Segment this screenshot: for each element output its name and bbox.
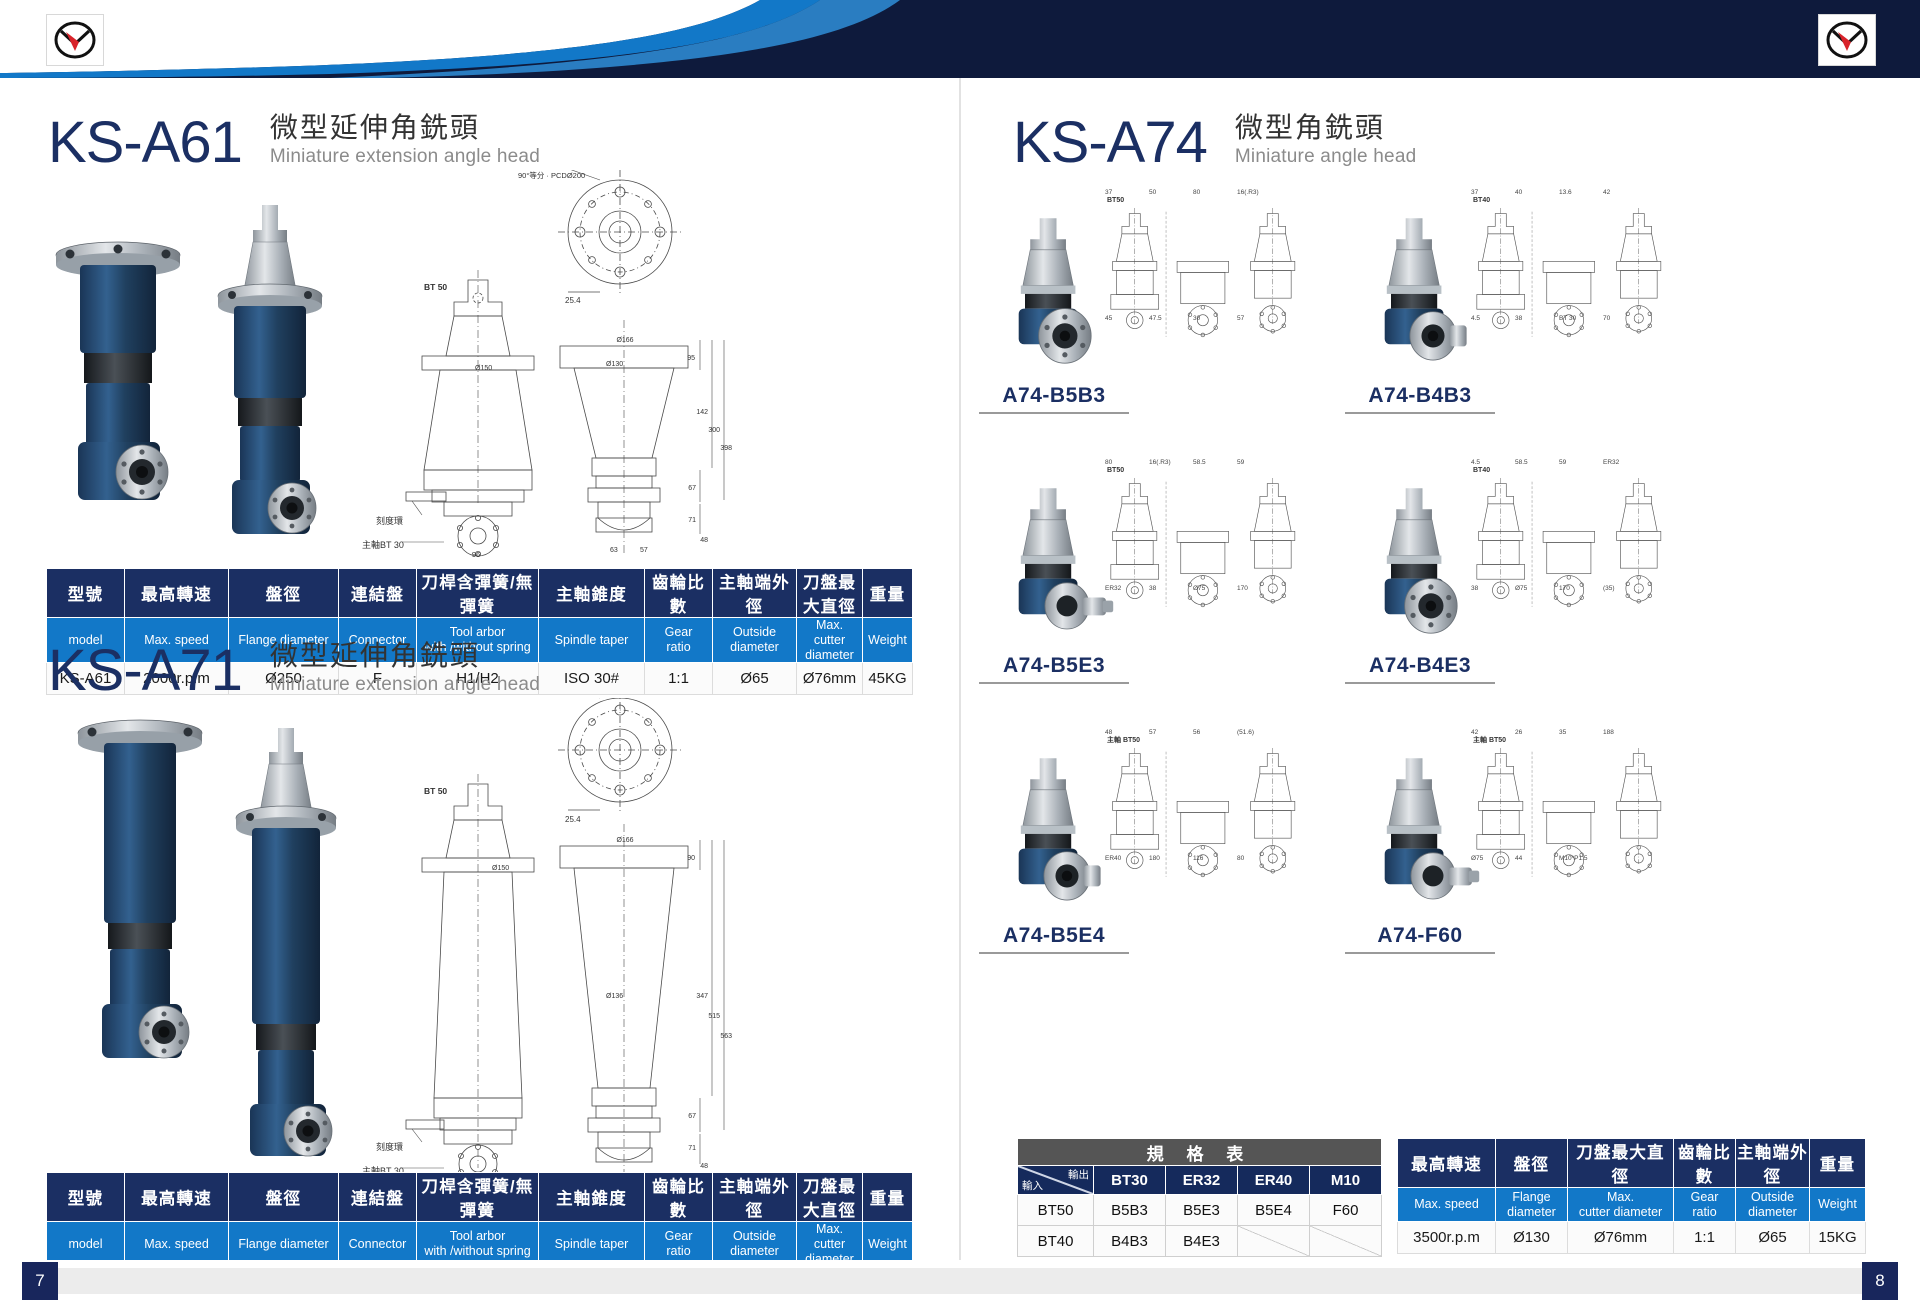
dim-2: 56 — [1193, 729, 1201, 736]
matrix-col-2: ER40 — [1238, 1166, 1310, 1195]
col-header-cn-0: 型號 — [47, 569, 125, 618]
variant-label: A74-B5E3 — [979, 654, 1129, 684]
dim-scale-ring-label: 刻度環 — [376, 1141, 403, 1152]
matrix-row: BT50B5B3B5E3B5E4F60 — [1018, 1195, 1382, 1226]
dim-136: Ø136 — [606, 993, 623, 1000]
matrix-cell-1-3 — [1310, 1226, 1382, 1257]
variant-label: A74-B4B3 — [1345, 384, 1495, 414]
col-header-cn-9: 重量 — [863, 569, 913, 618]
cell-8: Ø76mm — [797, 663, 863, 695]
matrix-title: 規 格 表 — [1018, 1139, 1382, 1166]
col-header-cn-5: 重量 — [1810, 1139, 1866, 1188]
cell-7: Ø65 — [713, 663, 797, 695]
dim-515: 515 — [708, 1013, 720, 1020]
variant-photo — [1385, 218, 1467, 360]
dim-3: ER32 — [1603, 459, 1620, 466]
col-header-en-0: Max. speed — [1398, 1188, 1496, 1222]
table-header-row-cn: 型號最高轉速盤徑連結盤刀桿含彈簧/無彈簧主軸錐度齒輪比數主軸端外徑刀盤最大直徑重… — [47, 1173, 913, 1222]
variant-block: BT5037508016(.R3)4547.53057A74-B5B3 — [979, 178, 1339, 448]
cell-1: Ø130 — [1496, 1222, 1568, 1254]
dim-4: 4.5 — [1471, 315, 1480, 322]
dim-3: (51.6) — [1237, 729, 1254, 736]
col-header-cn-3: 連結盤 — [339, 569, 417, 618]
taper-note: BT40 — [1473, 197, 1490, 204]
dim-3: 188 — [1603, 729, 1614, 736]
variant-technical-drawing — [1477, 208, 1595, 337]
variant-illustration: BT508016(.R3)58.559ER3238Ø75170 — [979, 448, 1335, 656]
matrix-row-label-1: BT40 — [1018, 1226, 1094, 1257]
variant-block: 主軸 BT50422635188Ø7544M10*P1.5A74-F60 — [1345, 718, 1705, 988]
col-header-cn-6: 齒輪比數 — [645, 569, 713, 618]
dim-5: 38 — [1149, 585, 1157, 592]
matrix-cell-0-3: F60 — [1310, 1195, 1382, 1226]
dim-2: 13.6 — [1559, 189, 1572, 196]
dim-48: 48 — [700, 537, 708, 544]
dim-1: 50 — [1149, 189, 1157, 196]
dim-bt50-label: BT 50 — [424, 786, 447, 796]
top-banner — [0, 0, 1920, 78]
dim-2: 35 — [1559, 729, 1567, 736]
dim-0: 37 — [1471, 189, 1479, 196]
col-header-en-5: Weight — [1810, 1188, 1866, 1222]
col-header-cn-3: 連結盤 — [339, 1173, 417, 1222]
company-logo-icon — [53, 20, 97, 60]
variant-technical-drawing-2 — [1617, 748, 1661, 873]
dim-6: 30 — [1193, 315, 1201, 322]
product-illustration-ks-a61: (4)Ø17貫穿 · 90°等分 · PCDØ200 25.4 — [40, 170, 920, 560]
col-header-en-4: Outsidediameter — [1736, 1188, 1810, 1222]
dim-label-254: 25.4 — [565, 815, 581, 824]
dim-spindle-label: 主軸BT 30 — [362, 539, 404, 550]
page-number-left: 7 — [22, 1262, 58, 1300]
variant-illustration: BT404.558.559ER3238Ø75170(35) — [1345, 448, 1701, 656]
dim-166: Ø166 — [616, 337, 633, 344]
variant-technical-drawing — [1111, 208, 1229, 337]
col-header-cn-2: 盤徑 — [229, 1173, 339, 1222]
matrix-cell-1-0: B4B3 — [1094, 1226, 1166, 1257]
dim-130: Ø130 — [606, 361, 623, 368]
taper-note: 主軸 BT50 — [1107, 735, 1140, 744]
drawing-section-view — [402, 270, 534, 557]
col-header-en-8: Max.cutter diameter — [797, 618, 863, 663]
dim-398: 398 — [720, 445, 732, 452]
variant-illustration: 主軸 BT50485756(51.6)ER4018011680 — [979, 718, 1335, 926]
variant-label: A74-B5E4 — [979, 924, 1129, 954]
variant-technical-drawing — [1477, 478, 1595, 607]
section-title-ks-a74: KS-A74 微型角銑頭 Miniature angle head — [1013, 110, 1416, 172]
col-header-cn-7: 主軸端外徑 — [713, 1173, 797, 1222]
dim-57: 57 — [640, 547, 648, 554]
dim-67: 67 — [688, 485, 696, 492]
right-page: KS-A74 微型角銑頭 Miniature angle head BT5037… — [961, 78, 1920, 1260]
dim-6: 116 — [1193, 855, 1204, 862]
variant-label: A74-B4E3 — [1345, 654, 1495, 684]
taper-note: 主軸 BT50 — [1473, 735, 1506, 744]
dim-1: 58.5 — [1515, 459, 1528, 466]
variant-illustration: BT40374013.6424.538BT 3070 — [1345, 178, 1701, 386]
dim-2: 80 — [1193, 189, 1201, 196]
dim-63: 63 — [610, 547, 618, 554]
photo-unit-a — [78, 720, 202, 1058]
drawing-flange-top-view — [540, 698, 682, 812]
cell-9: 45KG — [863, 663, 913, 695]
variant-technical-drawing-2 — [1617, 478, 1661, 603]
dim-7: (35) — [1603, 585, 1615, 592]
matrix-cell-1-2 — [1238, 1226, 1310, 1257]
col-header-en-5: Spindle taper — [539, 618, 645, 663]
dim-6: Ø75 — [1193, 585, 1206, 592]
dim-2: 58.5 — [1193, 459, 1206, 466]
variant-photo — [1019, 488, 1113, 629]
col-header-cn-2: 盤徑 — [229, 569, 339, 618]
col-header-cn-2: 刀盤最大直徑 — [1568, 1139, 1674, 1188]
matrix-col-3: M10 — [1310, 1166, 1382, 1195]
drawing-elevation-view — [560, 824, 724, 1178]
dim-4: ER40 — [1105, 855, 1122, 862]
ks-a61-drawing: (4)Ø17貫穿 · 90°等分 · PCDØ200 25.4 — [40, 170, 920, 560]
dim-95: 95 — [687, 355, 695, 362]
col-header-cn-6: 齒輪比數 — [645, 1173, 713, 1222]
dim-48: 48 — [700, 1163, 708, 1170]
dim-142: 142 — [696, 409, 708, 416]
col-header-cn-1: 最高轉速 — [125, 569, 229, 618]
section-name-en: Miniature extension angle head — [270, 145, 540, 170]
variant-photo — [1019, 758, 1101, 900]
table-body: 3500r.p.mØ130Ø76mm1:1Ø6515KG — [1398, 1222, 1866, 1254]
col-header-cn-4: 刀桿含彈簧/無彈簧 — [417, 569, 539, 618]
section-name-cn: 微型角銑頭 — [1235, 110, 1416, 145]
dim-7: 70 — [1603, 315, 1611, 322]
section-title-ks-a61: KS-A61 微型延伸角銑頭 Miniature extension angle… — [48, 110, 540, 172]
dim-6: BT 30 — [1559, 315, 1577, 322]
drawing-flange-top-view — [538, 170, 682, 294]
section-name-en: Miniature extension angle head — [270, 673, 540, 698]
col-header-cn-0: 最高轉速 — [1398, 1139, 1496, 1188]
dim-label-254: 25.4 — [565, 296, 581, 305]
table-header-row-en: Max. speedFlangediameterMax.cutter diame… — [1398, 1188, 1866, 1222]
matrix-cell-0-1: B5E3 — [1166, 1195, 1238, 1226]
dim-0: 37 — [1105, 189, 1113, 196]
spec-matrix-table: 規 格 表輸出輸入BT30ER32ER40M10BT50B5B3B5E3B5E4… — [1017, 1138, 1382, 1257]
col-header-cn-8: 刀盤最大直徑 — [797, 1173, 863, 1222]
cell-0: 3500r.p.m — [1398, 1222, 1496, 1254]
matrix-cell-0-2: B5E4 — [1238, 1195, 1310, 1226]
dim-5: Ø75 — [1515, 585, 1528, 592]
dim-67: 67 — [688, 1113, 696, 1120]
photo-unit-a — [56, 242, 180, 500]
dim-71: 71 — [688, 517, 696, 524]
matrix-row: BT40B4B3B4E3 — [1018, 1226, 1382, 1257]
taper-note: BT40 — [1473, 467, 1490, 474]
col-header-cn-5: 主軸錐度 — [539, 569, 645, 618]
dim-1: 26 — [1515, 729, 1523, 736]
section-code: KS-A61 — [48, 114, 242, 172]
dim-71: 71 — [688, 1145, 696, 1152]
section-name-en: Miniature angle head — [1235, 145, 1416, 170]
variant-technical-drawing-2 — [1251, 478, 1295, 603]
matrix-cell-1-1: B4E3 — [1166, 1226, 1238, 1257]
variant-label: A74-F60 — [1345, 924, 1495, 954]
company-logo-right — [1818, 14, 1876, 66]
dim-347: 347 — [696, 993, 708, 1000]
dim-5: 180 — [1149, 855, 1160, 862]
matrix-corner-output: 輸出 — [1068, 1167, 1089, 1182]
dim-7: 170 — [1237, 585, 1248, 592]
col-header-cn-1: 盤徑 — [1496, 1139, 1568, 1188]
dim-3: 42 — [1603, 189, 1611, 196]
drawing-section-view — [400, 774, 534, 1184]
cell-5: ISO 30# — [539, 663, 645, 695]
matrix-corner-input: 輸入 — [1022, 1178, 1043, 1193]
product-illustration-ks-a71: (4)Ø17貫穿 · 90°等分 · PCDØ200 25.4 — [40, 698, 920, 1198]
dim-5: 44 — [1515, 855, 1523, 862]
company-logo-icon — [1825, 20, 1869, 60]
left-page: KS-A61 微型延伸角銑頭 Miniature extension angle… — [0, 78, 959, 1260]
dim-0: 80 — [1105, 459, 1113, 466]
taper-note: BT50 — [1107, 197, 1124, 204]
dim-6: M10*P1.5 — [1559, 855, 1588, 862]
matrix-corner-cell: 輸出輸入 — [1018, 1166, 1094, 1195]
dim-7: 57 — [1237, 315, 1245, 322]
dim-150: Ø150 — [492, 865, 509, 872]
dim-7: 80 — [1237, 855, 1245, 862]
dim-0: 4.5 — [1471, 459, 1480, 466]
col-header-cn-3: 齒輪比數 — [1674, 1139, 1736, 1188]
dim-hole-note-2: 90°等分 · PCDØ200 — [518, 170, 585, 180]
section-code: KS-A71 — [48, 642, 242, 700]
variant-illustration: 主軸 BT50422635188Ø7544M10*P1.5 — [1345, 718, 1701, 926]
photo-unit-b — [218, 205, 322, 534]
drawing-elevation-view — [560, 320, 724, 556]
table-row: 3500r.p.mØ130Ø76mm1:1Ø6515KG — [1398, 1222, 1866, 1254]
variant-technical-drawing — [1111, 478, 1229, 607]
variant-photo — [1385, 488, 1457, 633]
variant-block: BT508016(.R3)58.559ER3238Ø75170A74-B5E3 — [979, 448, 1339, 718]
matrix-col-1: ER32 — [1166, 1166, 1238, 1195]
dim-4: 38 — [1471, 585, 1479, 592]
variant-technical-drawing — [1111, 748, 1229, 877]
col-header-en-7: Outsidediameter — [713, 618, 797, 663]
variant-label: A74-B5B3 — [979, 384, 1129, 414]
page-number-right: 8 — [1862, 1262, 1898, 1300]
dim-90: 90 — [687, 855, 695, 862]
matrix-header-row: 輸出輸入BT30ER32ER40M10 — [1018, 1166, 1382, 1195]
variant-technical-drawing-2 — [1617, 208, 1661, 333]
matrix-title-row: 規 格 表 — [1018, 1139, 1382, 1166]
variant-photo — [1019, 218, 1091, 363]
photo-unit-b — [236, 728, 336, 1156]
company-logo-left — [46, 14, 104, 66]
variant-illustration: BT5037508016(.R3)4547.53057 — [979, 178, 1335, 386]
section-title-ks-a71: KS-A71 微型延伸角銑頭 Miniature extension angle… — [48, 638, 540, 700]
col-header-en-1: Flangediameter — [1496, 1188, 1568, 1222]
dim-2: 59 — [1559, 459, 1567, 466]
variant-block: BT40374013.6424.538BT 3070A74-B4B3 — [1345, 178, 1705, 448]
col-header-cn-5: 主軸錐度 — [539, 1173, 645, 1222]
cell-4: Ø65 — [1736, 1222, 1810, 1254]
taper-note: BT50 — [1107, 467, 1124, 474]
dim-166: Ø166 — [616, 837, 633, 844]
dim-6: 170 — [1559, 585, 1570, 592]
dim-3: 16(.R3) — [1237, 189, 1259, 196]
dim-0: 42 — [1471, 729, 1479, 736]
footer-bar — [56, 1268, 1864, 1294]
table-header-row-cn: 型號最高轉速盤徑連結盤刀桿含彈簧/無彈簧主軸錐度齒輪比數主軸端外徑刀盤最大直徑重… — [47, 569, 913, 618]
col-header-en-2: Max.cutter diameter — [1568, 1188, 1674, 1222]
dim-3: 59 — [1237, 459, 1245, 466]
dim-300: 300 — [708, 427, 720, 434]
col-header-en-9: Weight — [863, 618, 913, 663]
dim-5: 38 — [1515, 315, 1523, 322]
dim-5: 47.5 — [1149, 315, 1162, 322]
variant-block: BT404.558.559ER3238Ø75170(35)A74-B4E3 — [1345, 448, 1705, 718]
matrix-col-0: BT30 — [1094, 1166, 1166, 1195]
cell-5: 15KG — [1810, 1222, 1866, 1254]
dim-0: 48 — [1105, 729, 1113, 736]
variant-block: 主軸 BT50485756(51.6)ER4018011680A74-B5E4 — [979, 718, 1339, 988]
spec-table-ks-a74: 最高轉速盤徑刀盤最大直徑齒輪比數主軸端外徑重量 Max. speedFlange… — [1397, 1138, 1866, 1254]
catalog-spread: KS-A61 微型延伸角銑頭 Miniature extension angle… — [0, 78, 1920, 1260]
matrix-cell-0-0: B5B3 — [1094, 1195, 1166, 1226]
dim-1: 40 — [1515, 189, 1523, 196]
variant-photo — [1385, 758, 1480, 899]
dim-4: 45 — [1105, 315, 1113, 322]
cell-3: 1:1 — [1674, 1222, 1736, 1254]
col-header-cn-0: 型號 — [47, 1173, 125, 1222]
col-header-cn-4: 刀桿含彈簧/無彈簧 — [417, 1173, 539, 1222]
col-header-en-6: Gearratio — [645, 618, 713, 663]
dim-bt50-label: BT 50 — [424, 282, 447, 292]
col-header-cn-4: 主軸端外徑 — [1736, 1139, 1810, 1188]
col-header-cn-9: 重量 — [863, 1173, 913, 1222]
variant-technical-drawing-2 — [1251, 748, 1295, 873]
col-header-cn-8: 刀盤最大直徑 — [797, 569, 863, 618]
section-name-cn: 微型延伸角銑頭 — [270, 110, 540, 145]
section-code: KS-A74 — [1013, 114, 1207, 172]
cell-6: 1:1 — [645, 663, 713, 695]
dim-96: 96 — [472, 550, 480, 559]
dim-scale-ring-label: 刻度環 — [376, 515, 403, 526]
table-header-row-cn: 最高轉速盤徑刀盤最大直徑齒輪比數主軸端外徑重量 — [1398, 1139, 1866, 1188]
dim-563: 563 — [720, 1033, 732, 1040]
variant-technical-drawing-2 — [1251, 208, 1295, 333]
dim-4: ER32 — [1105, 585, 1122, 592]
dim-4: Ø75 — [1471, 855, 1484, 862]
matrix-row-label-0: BT50 — [1018, 1195, 1094, 1226]
ks-a71-drawing: (4)Ø17貫穿 · 90°等分 · PCDØ200 25.4 — [40, 698, 920, 1198]
banner-swoosh-graphic — [0, 0, 1920, 78]
col-header-cn-1: 最高轉速 — [125, 1173, 229, 1222]
section-name-cn: 微型延伸角銑頭 — [270, 638, 540, 673]
cell-2: Ø76mm — [1568, 1222, 1674, 1254]
col-header-cn-7: 主軸端外徑 — [713, 569, 797, 618]
dim-150: Ø150 — [475, 365, 492, 372]
col-header-en-3: Gearratio — [1674, 1188, 1736, 1222]
dim-1: 16(.R3) — [1149, 459, 1171, 466]
dim-1: 57 — [1149, 729, 1157, 736]
